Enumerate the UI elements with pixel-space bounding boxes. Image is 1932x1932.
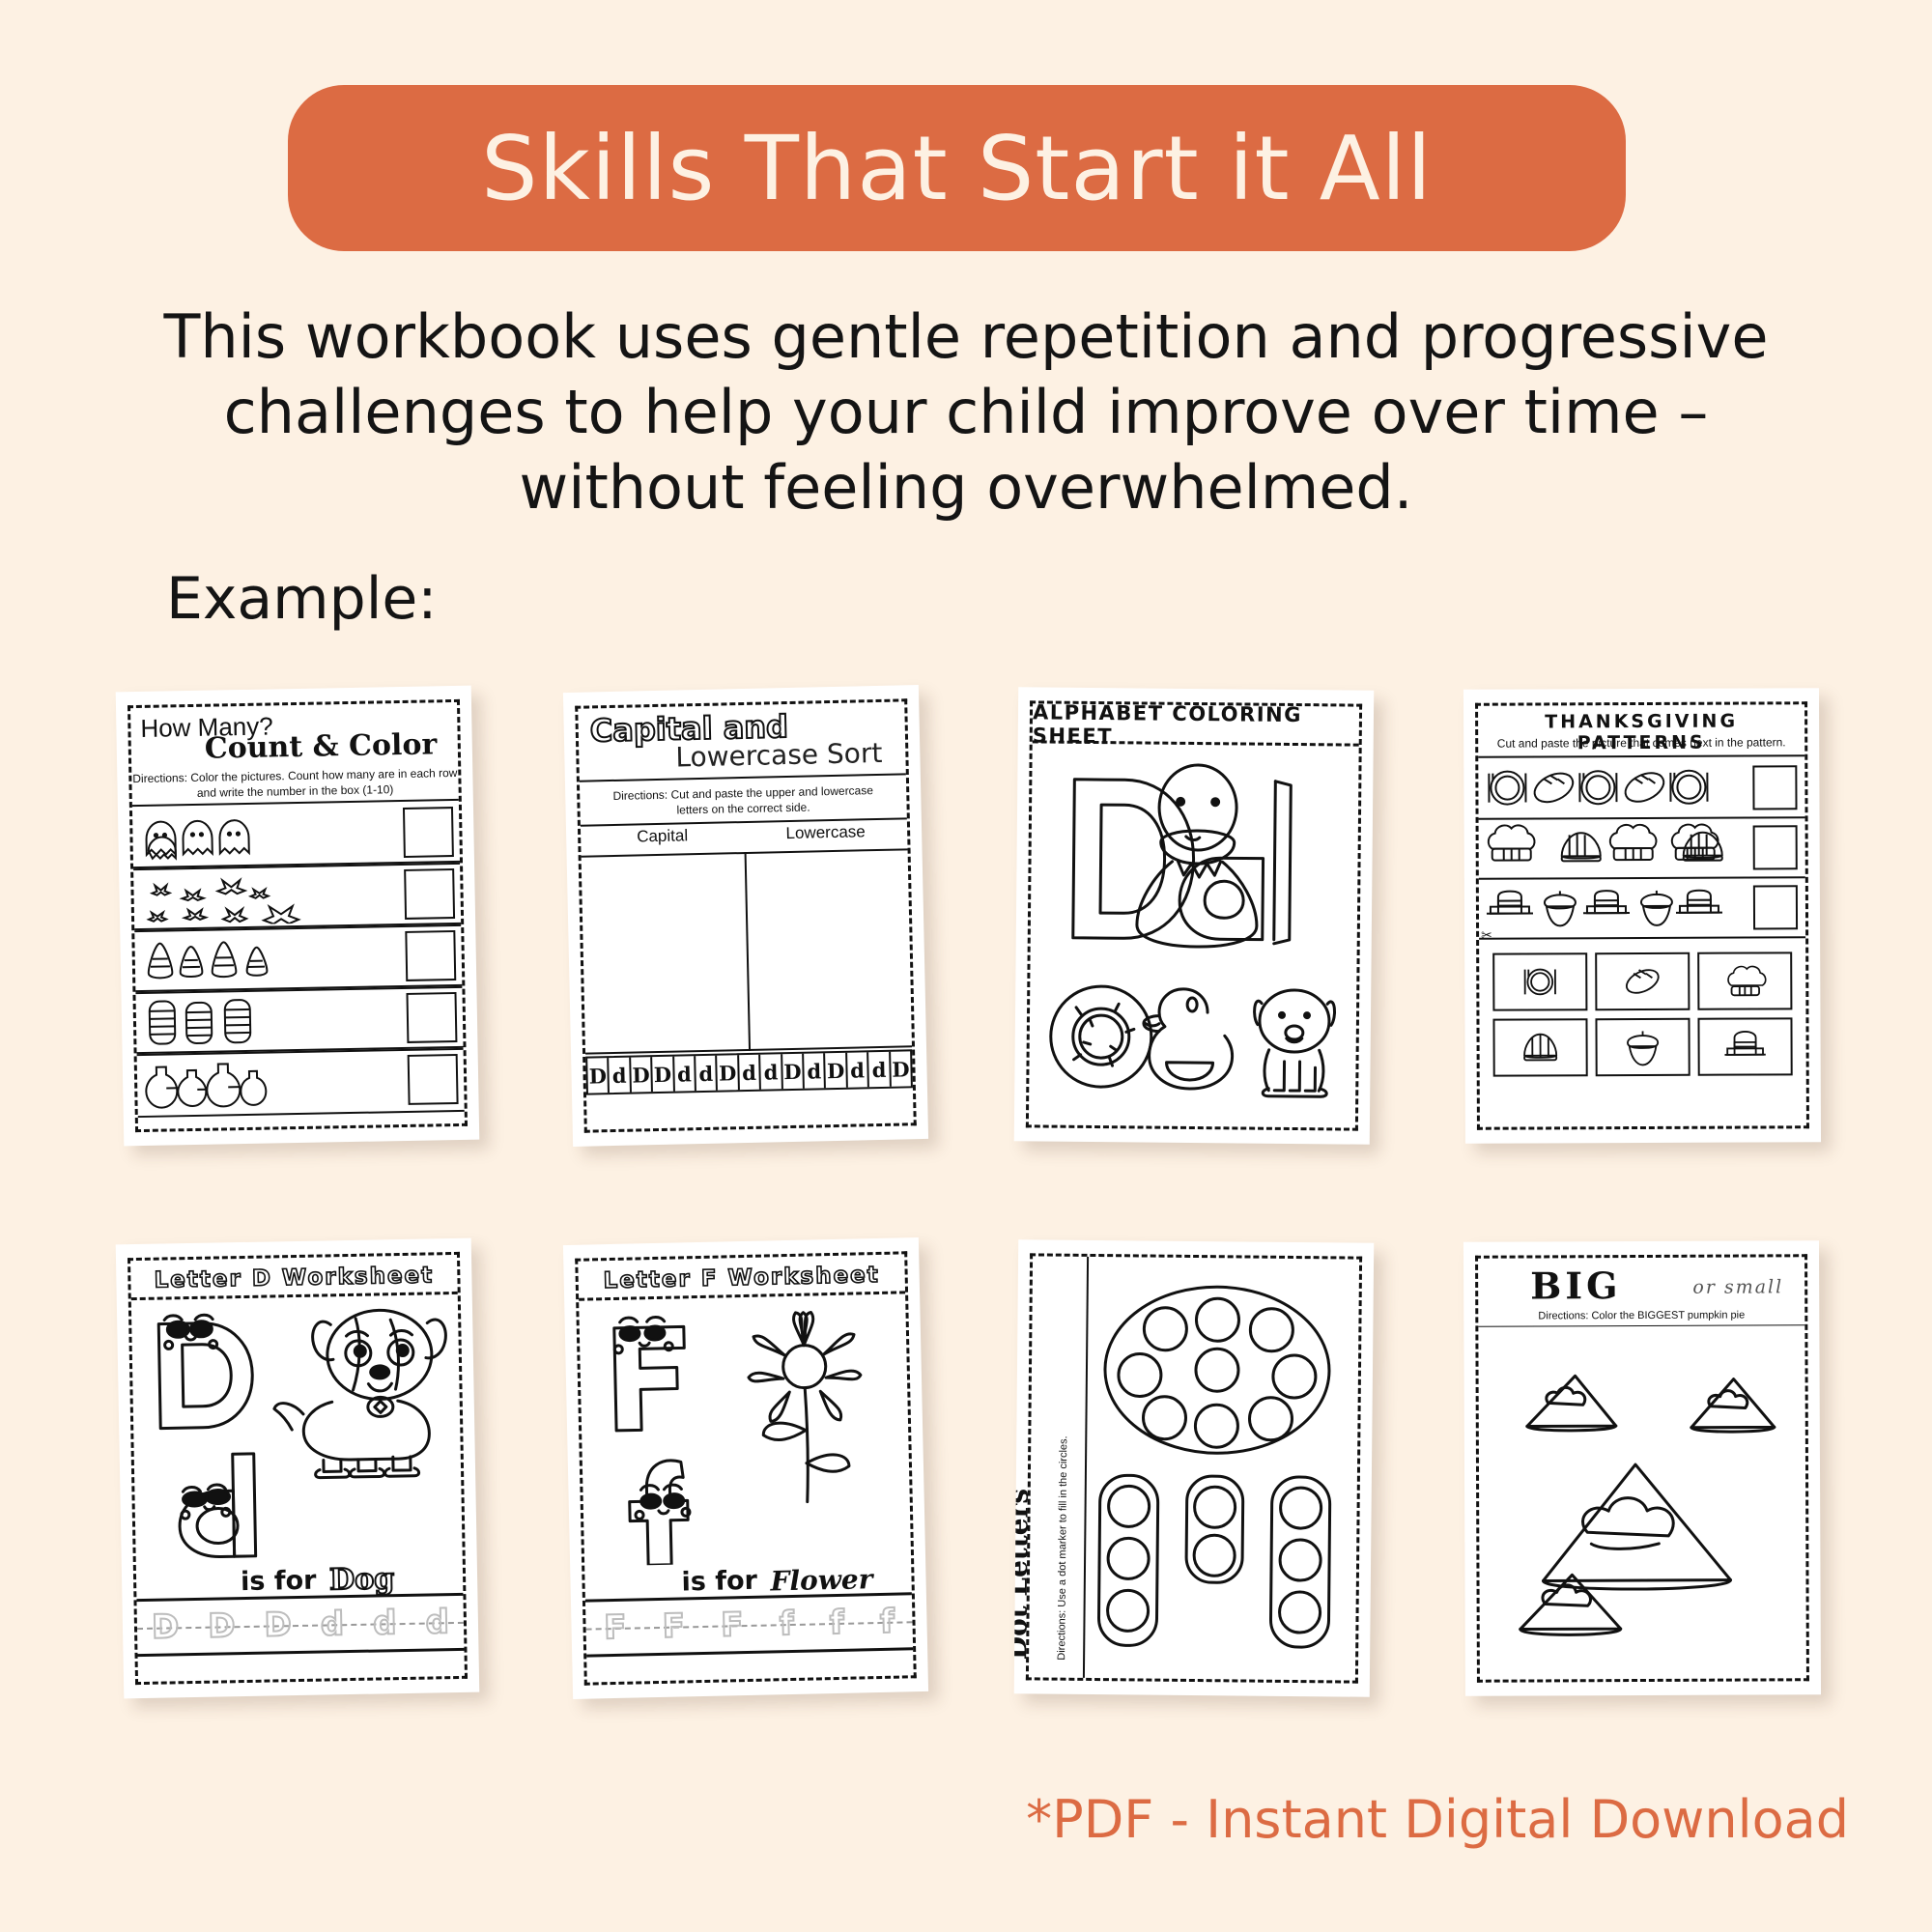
trace-letter[interactable]: D <box>264 1605 292 1645</box>
cut-out-letter-cell[interactable]: D <box>826 1053 848 1088</box>
tracing-strip[interactable]: DDDddd <box>136 1593 464 1657</box>
worksheet-thumbnail-big-or-small[interactable]: BIG or small Directions: Color the BIGGE… <box>1463 1240 1821 1696</box>
worksheet-thumbnail-capital-lowercase-sort[interactable]: Capital and Lowercase Sort Directions: C… <box>563 685 928 1147</box>
worksheet-2-column-header-capital: Capital <box>581 825 745 856</box>
cut-out-letter-cell[interactable]: d <box>804 1053 826 1088</box>
cut-out-tile[interactable] <box>1697 1017 1792 1075</box>
big-letter-Dd-illustration <box>1044 760 1336 966</box>
cut-out-letter-strip[interactable]: DdDDddDddDdDddD <box>585 1049 913 1094</box>
trace-letter[interactable]: D <box>208 1606 236 1646</box>
pie-slice-medium-icon[interactable] <box>1512 1561 1628 1643</box>
worksheet-thumbnail-letter-d[interactable]: Letter D Worksheet <box>116 1238 480 1699</box>
intro-line-3: without feeling overwhelmed. <box>135 450 1797 526</box>
worksheet-7-title: Dot Letters <box>1014 1489 1035 1661</box>
worksheet-thumbnail-dot-letters[interactable]: Dot Letters Directions: Use a dot marker… <box>1014 1239 1374 1697</box>
pie-slice-small-icon[interactable] <box>1686 1369 1780 1438</box>
pudding-icon <box>1562 833 1601 861</box>
sort-drop-area-capital[interactable] <box>582 852 749 1055</box>
worksheet-5-word: Dog <box>329 1562 395 1597</box>
trace-letter[interactable]: F <box>662 1606 685 1645</box>
trace-letter[interactable]: d <box>320 1605 344 1643</box>
intro-line-1: This workbook uses gentle repetition and… <box>135 299 1797 375</box>
trace-letter[interactable]: f <box>779 1605 794 1643</box>
dot-letter-block-shape[interactable] <box>1093 1469 1336 1655</box>
cut-out-tile[interactable] <box>1595 952 1690 1010</box>
pattern-answer-box[interactable] <box>1753 825 1798 869</box>
worksheet-thumbnail-count-and-color[interactable]: How Many? Count & Color Directions: Colo… <box>116 686 480 1147</box>
flower-illustration <box>708 1303 902 1510</box>
cut-out-letter-cell[interactable]: d <box>696 1056 718 1091</box>
bread-icon <box>1530 768 1577 809</box>
answer-box[interactable] <box>406 992 457 1043</box>
cut-out-letter-cell[interactable]: d <box>610 1058 632 1093</box>
letter-f-lowercase-illustration <box>611 1452 711 1566</box>
page-title: Skills That Start it All <box>481 117 1433 220</box>
pilgrim-hat-icon <box>1676 891 1722 913</box>
tracing-strip[interactable]: FFFfff <box>585 1592 913 1657</box>
dot-letter-circle-shape[interactable] <box>1100 1282 1334 1458</box>
letter-D-uppercase-illustration <box>145 1305 264 1442</box>
cut-out-letter-cell[interactable]: d <box>674 1056 696 1091</box>
worksheet-5-title: Letter D Worksheet <box>130 1259 458 1300</box>
worksheet-4-directions: Cut and paste the picture that comes nex… <box>1478 735 1804 750</box>
bread-icon <box>1621 767 1668 808</box>
trace-letter[interactable]: F <box>604 1608 627 1647</box>
worksheet-8-title-small: or small <box>1692 1276 1783 1297</box>
worksheet-6-word: Flower <box>770 1563 873 1597</box>
chef-hat-icon <box>1728 966 1766 995</box>
worksheet-3-title: ALPHABET COLORING SHEET <box>1033 707 1359 746</box>
trace-letter[interactable]: d <box>373 1604 397 1642</box>
cut-out-letter-cell[interactable]: D <box>782 1054 805 1089</box>
answer-box[interactable] <box>405 930 456 981</box>
letter-F-uppercase-illustration <box>596 1307 701 1444</box>
cut-out-letter-cell[interactable]: d <box>739 1055 761 1090</box>
answer-box[interactable] <box>403 807 454 858</box>
worksheet-2-title-line-2: Lowercase Sort <box>675 737 883 774</box>
pattern-row <box>1479 816 1805 879</box>
bread-icon <box>1623 965 1662 997</box>
acorn-icon <box>1641 891 1672 925</box>
dog-icon <box>1254 990 1335 1097</box>
cut-out-tile[interactable] <box>1595 1018 1690 1076</box>
acorn-icon <box>1628 1031 1658 1065</box>
acorn-icon <box>1545 891 1576 925</box>
cut-out-tile[interactable] <box>1492 1018 1587 1076</box>
worksheet-thumbnail-letter-f[interactable]: Letter F Worksheet <box>563 1237 928 1699</box>
intro-paragraph: This workbook uses gentle repetition and… <box>135 299 1797 526</box>
answer-box[interactable] <box>404 868 455 920</box>
worksheet-6-title: Letter F Worksheet <box>578 1258 905 1300</box>
worksheet-8-title-big: BIG <box>1530 1264 1622 1307</box>
pudding-icon <box>1524 1035 1556 1061</box>
cut-out-letter-cell[interactable]: d <box>847 1052 869 1087</box>
dog-illustration <box>263 1305 451 1482</box>
cut-out-tile-grid[interactable] <box>1492 952 1793 1076</box>
plate-icon <box>1489 772 1525 805</box>
dot-letters-divider <box>1083 1257 1089 1678</box>
chef-hat-icon <box>1610 825 1657 860</box>
plate-icon <box>1525 970 1555 995</box>
worksheet-2-column-header-lowercase: Lowercase <box>744 821 908 852</box>
pie-slice-small-icon[interactable] <box>1520 1364 1624 1437</box>
worksheet-6-is-for-label: is for <box>681 1566 757 1598</box>
cut-out-tile[interactable] <box>1492 952 1587 1010</box>
worksheet-thumbnail-alphabet-coloring-sheet[interactable]: ALPHABET COLORING SHEET <box>1014 687 1374 1145</box>
header-banner: Skills That Start it All <box>288 85 1626 251</box>
picture-row-donut-duck-dog <box>1046 973 1343 1101</box>
example-label: Example: <box>166 565 438 633</box>
pilgrim-hat-icon <box>1724 1032 1765 1055</box>
pilgrim-hat-icon <box>1583 891 1630 913</box>
worksheet-1-title-big: Count & Color <box>204 727 437 765</box>
plate-icon <box>1579 771 1616 804</box>
chef-hat-icon <box>1489 825 1535 860</box>
trace-letter[interactable]: f <box>880 1603 895 1641</box>
worksheet-5-is-for-label: is for <box>241 1566 317 1597</box>
pattern-row: ✂ <box>1479 876 1805 939</box>
cut-out-letter-cell[interactable]: D <box>631 1057 653 1092</box>
sort-drop-area-lowercase[interactable] <box>745 848 912 1051</box>
chef-hat-icon <box>1672 824 1719 859</box>
worksheet-8-directions: Directions: Color the BIGGEST pumpkin pi… <box>1478 1309 1804 1321</box>
donut-icon <box>1050 986 1151 1088</box>
plate-icon <box>1670 771 1707 804</box>
worksheet-thumbnail-thanksgiving-patterns[interactable]: THANKSGIVING PATTERNS Cut and paste the … <box>1463 688 1821 1144</box>
pattern-answer-box[interactable] <box>1753 885 1798 929</box>
trace-letter[interactable]: F <box>721 1605 744 1644</box>
pattern-row <box>1478 756 1804 819</box>
cut-out-letter-cell[interactable]: D <box>652 1057 674 1092</box>
intro-line-2: challenges to help your child improve ov… <box>135 375 1797 450</box>
pattern-answer-box[interactable] <box>1752 765 1797 810</box>
cut-out-letter-cell[interactable]: D <box>587 1058 610 1093</box>
cut-arrow-icon: ✂ <box>1481 928 1492 944</box>
cut-out-letter-cell[interactable]: d <box>868 1052 891 1087</box>
cut-out-letter-cell[interactable]: d <box>760 1054 782 1089</box>
letter-d-lowercase-illustration <box>161 1447 275 1565</box>
worksheet-7-directions: Directions: Use a dot marker to fill in … <box>1056 1435 1069 1660</box>
cut-out-letter-cell[interactable]: D <box>891 1051 911 1086</box>
duck-icon <box>1143 989 1233 1090</box>
pilgrim-hat-icon <box>1487 891 1533 913</box>
trace-letter[interactable]: D <box>152 1607 180 1647</box>
trace-letter[interactable]: f <box>829 1604 844 1642</box>
cut-out-letter-cell[interactable]: D <box>718 1055 740 1090</box>
cut-out-tile[interactable] <box>1697 952 1792 1009</box>
trace-letter[interactable]: d <box>425 1603 449 1641</box>
footer-note: *PDF - Instant Digital Download <box>1026 1789 1849 1850</box>
answer-box[interactable] <box>408 1054 459 1105</box>
